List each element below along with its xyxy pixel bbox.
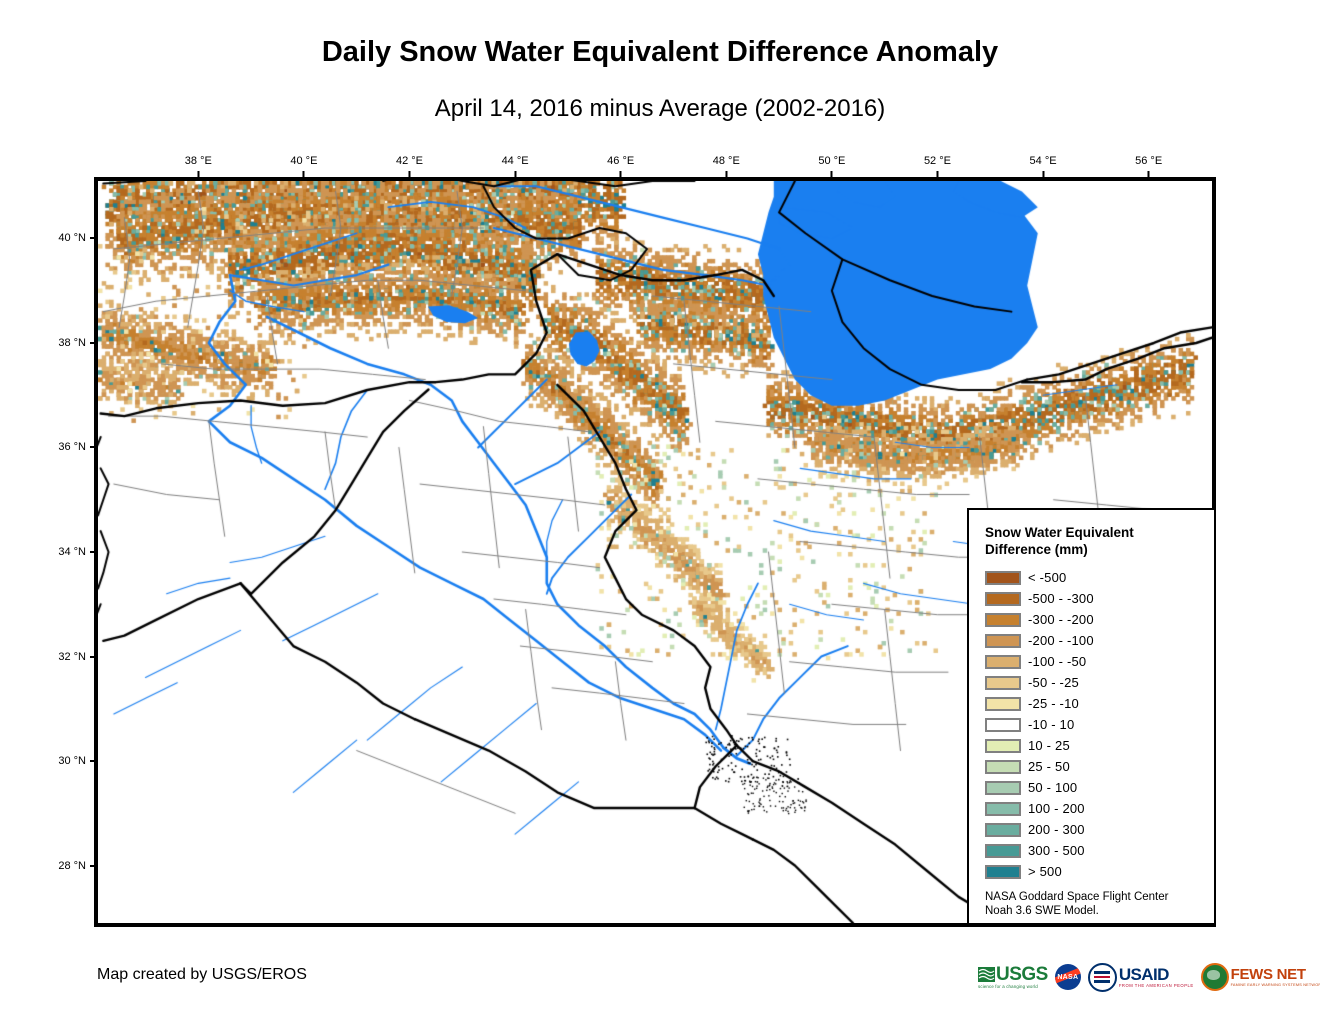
legend-swatch — [985, 781, 1021, 795]
legend-label: -100 - -50 — [1028, 654, 1086, 669]
legend-row: -50 - -25 — [985, 672, 1214, 693]
legend-row: 50 - 100 — [985, 777, 1214, 798]
lon-tick-54: 54 °E — [1030, 155, 1057, 167]
lat-tick-34: 34 °N — [42, 546, 86, 558]
lon-tick-56: 56 °E — [1135, 155, 1162, 167]
usgs-tagline: science for a changing world — [978, 984, 1048, 990]
legend-label: -200 - -100 — [1028, 633, 1094, 648]
page-subtitle: April 14, 2016 minus Average (2002-2016) — [0, 95, 1320, 123]
legend-row: -25 - -10 — [985, 693, 1214, 714]
legend-title: Snow Water Equivalent Difference (mm) — [985, 524, 1195, 558]
map-page: Daily Snow Water Equivalent Difference A… — [0, 0, 1320, 1020]
legend-row: -100 - -50 — [985, 651, 1214, 672]
usaid-wordmark: USAID — [1119, 966, 1194, 983]
legend-swatch — [985, 865, 1021, 879]
lat-tick-38: 38 °N — [42, 337, 86, 349]
legend-swatch — [985, 571, 1021, 585]
legend-swatch — [985, 613, 1021, 627]
fews-tagline: FAMINE EARLY WARNING SYSTEMS NETWORK — [1231, 983, 1320, 988]
logo-row: USGS science for a changing world NASA U… — [978, 957, 1220, 997]
legend-label: 50 - 100 — [1028, 780, 1077, 795]
legend-row: 200 - 300 — [985, 819, 1214, 840]
legend-label: 200 - 300 — [1028, 822, 1085, 837]
legend-swatch — [985, 739, 1021, 753]
legend-swatch — [985, 823, 1021, 837]
page-title: Daily Snow Water Equivalent Difference A… — [0, 36, 1320, 69]
legend-row: 10 - 25 — [985, 735, 1214, 756]
nasa-logo: NASA — [1055, 960, 1081, 994]
lon-tick-38: 38 °E — [185, 155, 212, 167]
fews-net-logo: FEWS NET FAMINE EARLY WARNING SYSTEMS NE… — [1201, 960, 1320, 994]
legend-title-line2: Difference (mm) — [985, 541, 1195, 558]
usgs-logo: USGS science for a changing world — [978, 960, 1048, 994]
legend-class-list: < -500-500 - -300-300 - -200-200 - -100-… — [985, 567, 1214, 882]
legend-label: 100 - 200 — [1028, 801, 1085, 816]
lon-tick-50: 50 °E — [818, 155, 845, 167]
legend-label: 25 - 50 — [1028, 759, 1070, 774]
usgs-wordmark: USGS — [996, 965, 1048, 984]
legend-swatch — [985, 802, 1021, 816]
legend-swatch — [985, 634, 1021, 648]
legend-row: -10 - 10 — [985, 714, 1214, 735]
legend-row: 25 - 50 — [985, 756, 1214, 777]
legend-source-line2: Noah 3.6 SWE Model. — [985, 905, 1200, 919]
usgs-wave-icon — [978, 967, 995, 982]
usaid-logo: USAID FROM THE AMERICAN PEOPLE — [1088, 960, 1194, 994]
fews-wordmark: FEWS NET — [1231, 967, 1320, 983]
lon-tick-46: 46 °E — [607, 155, 634, 167]
lat-tick-32: 32 °N — [42, 651, 86, 663]
nasa-wordmark: NASA — [1055, 964, 1081, 990]
legend-source-note: NASA Goddard Space Flight Center Noah 3.… — [985, 891, 1200, 918]
legend-label: -25 - -10 — [1028, 696, 1079, 711]
lon-tick-52: 52 °E — [924, 155, 951, 167]
map-legend: Snow Water Equivalent Difference (mm) < … — [967, 508, 1216, 925]
legend-label: -500 - -300 — [1028, 591, 1094, 606]
lon-tick-40: 40 °E — [290, 155, 317, 167]
legend-row: 100 - 200 — [985, 798, 1214, 819]
legend-label: -300 - -200 — [1028, 612, 1094, 627]
legend-label: 300 - 500 — [1028, 843, 1085, 858]
lat-tick-28: 28 °N — [42, 860, 86, 872]
usaid-tagline: FROM THE AMERICAN PEOPLE — [1119, 983, 1194, 989]
lat-tick-36: 36 °N — [42, 441, 86, 453]
legend-row: -200 - -100 — [985, 630, 1214, 651]
lon-tick-42: 42 °E — [396, 155, 423, 167]
map-credit: Map created by USGS/EROS — [97, 966, 307, 984]
legend-swatch — [985, 676, 1021, 690]
legend-swatch — [985, 844, 1021, 858]
fews-globe-icon — [1201, 963, 1229, 991]
legend-label: > 500 — [1028, 864, 1062, 879]
legend-label: 10 - 25 — [1028, 738, 1070, 753]
lon-tick-44: 44 °E — [502, 155, 529, 167]
legend-swatch — [985, 592, 1021, 606]
legend-swatch — [985, 655, 1021, 669]
legend-label: < -500 — [1028, 570, 1066, 585]
legend-label: -50 - -25 — [1028, 675, 1079, 690]
legend-row: -300 - -200 — [985, 609, 1214, 630]
legend-row: < -500 — [985, 567, 1214, 588]
legend-row: 300 - 500 — [985, 840, 1214, 861]
lat-tick-40: 40 °N — [42, 232, 86, 244]
usaid-seal-icon — [1088, 963, 1117, 992]
legend-swatch — [985, 760, 1021, 774]
legend-title-line1: Snow Water Equivalent — [985, 524, 1195, 541]
legend-row: -500 - -300 — [985, 588, 1214, 609]
lon-tick-48: 48 °E — [713, 155, 740, 167]
legend-swatch — [985, 697, 1021, 711]
nasa-meatball-icon: NASA — [1055, 964, 1081, 990]
legend-swatch — [985, 718, 1021, 732]
lat-tick-30: 30 °N — [42, 755, 86, 767]
legend-label: -10 - 10 — [1028, 717, 1074, 732]
legend-source-line1: NASA Goddard Space Flight Center — [985, 891, 1200, 905]
legend-row: > 500 — [985, 861, 1214, 882]
